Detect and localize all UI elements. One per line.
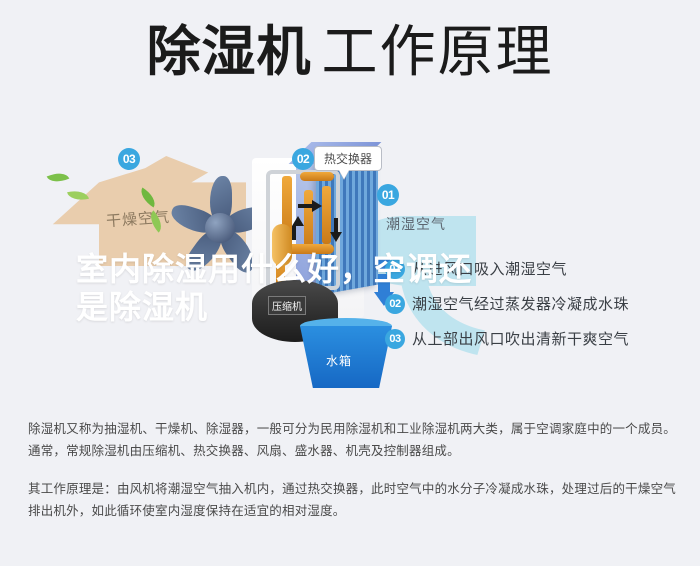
receiver-cylinder-icon — [272, 224, 292, 266]
flow-arrow-up-icon — [292, 216, 304, 226]
flow-arrow-down-icon — [330, 232, 342, 242]
step-badge-01: 01 — [385, 259, 405, 279]
step-text-01: 从进风口吸入潮湿空气 — [412, 258, 567, 279]
article-body: 除湿机又称为抽湿机、干燥机、除湿器，一般可分为民用除湿机和工业除湿机两大类，属于… — [28, 418, 676, 538]
step-text-02: 潮湿空气经过蒸发器冷凝成水珠 — [412, 293, 629, 314]
flow-arrow-down-icon — [334, 218, 338, 232]
step-item: 02 潮湿空气经过蒸发器冷凝成水珠 — [385, 293, 685, 314]
refrigerant-pipe-icon — [304, 190, 313, 250]
step-item: 03 从上部出风口吹出清新干爽空气 — [385, 328, 685, 349]
humid-air-label: 潮湿空气 — [386, 214, 446, 234]
compressor-label: 压缩机 — [268, 296, 306, 315]
diagram-bubble-01: 01 — [377, 184, 399, 206]
diagram-bubble-02: 02 — [292, 148, 314, 170]
body-paragraph-1: 除湿机又称为抽湿机、干燥机、除湿器，一般可分为民用除湿机和工业除湿机两大类，属于… — [28, 418, 676, 462]
fan-hub-icon — [205, 213, 235, 243]
water-tank-label: 水箱 — [326, 352, 352, 369]
page-title: 除湿机工作原理 — [0, 24, 700, 80]
body-paragraph-2: 其工作原理是：由风机将潮湿空气抽入机内，通过热交换器，此时空气中的水分子冷凝成水… — [28, 478, 676, 522]
diagram-bubble-03: 03 — [118, 148, 140, 170]
step-badge-03: 03 — [385, 329, 405, 349]
infographic-page: 除湿机工作原理 干燥空气 — [0, 0, 700, 566]
title-bold-part: 除湿机 — [147, 22, 312, 82]
flow-arrow-up-icon — [292, 226, 296, 240]
step-text-03: 从上部出风口吹出清新干爽空气 — [412, 328, 629, 349]
leaf-icon — [47, 168, 70, 186]
refrigerant-pipe-icon — [300, 172, 334, 181]
step-list: 01 从进风口吸入潮湿空气 02 潮湿空气经过蒸发器冷凝成水珠 03 从上部出风… — [385, 258, 685, 363]
heat-exchanger-callout: 热交换器 — [314, 146, 382, 171]
title-light-part: 工作原理 — [322, 20, 554, 83]
step-item: 01 从进风口吸入潮湿空气 — [385, 258, 685, 279]
step-badge-02: 02 — [385, 294, 405, 314]
flow-arrow-right-icon — [312, 200, 322, 212]
